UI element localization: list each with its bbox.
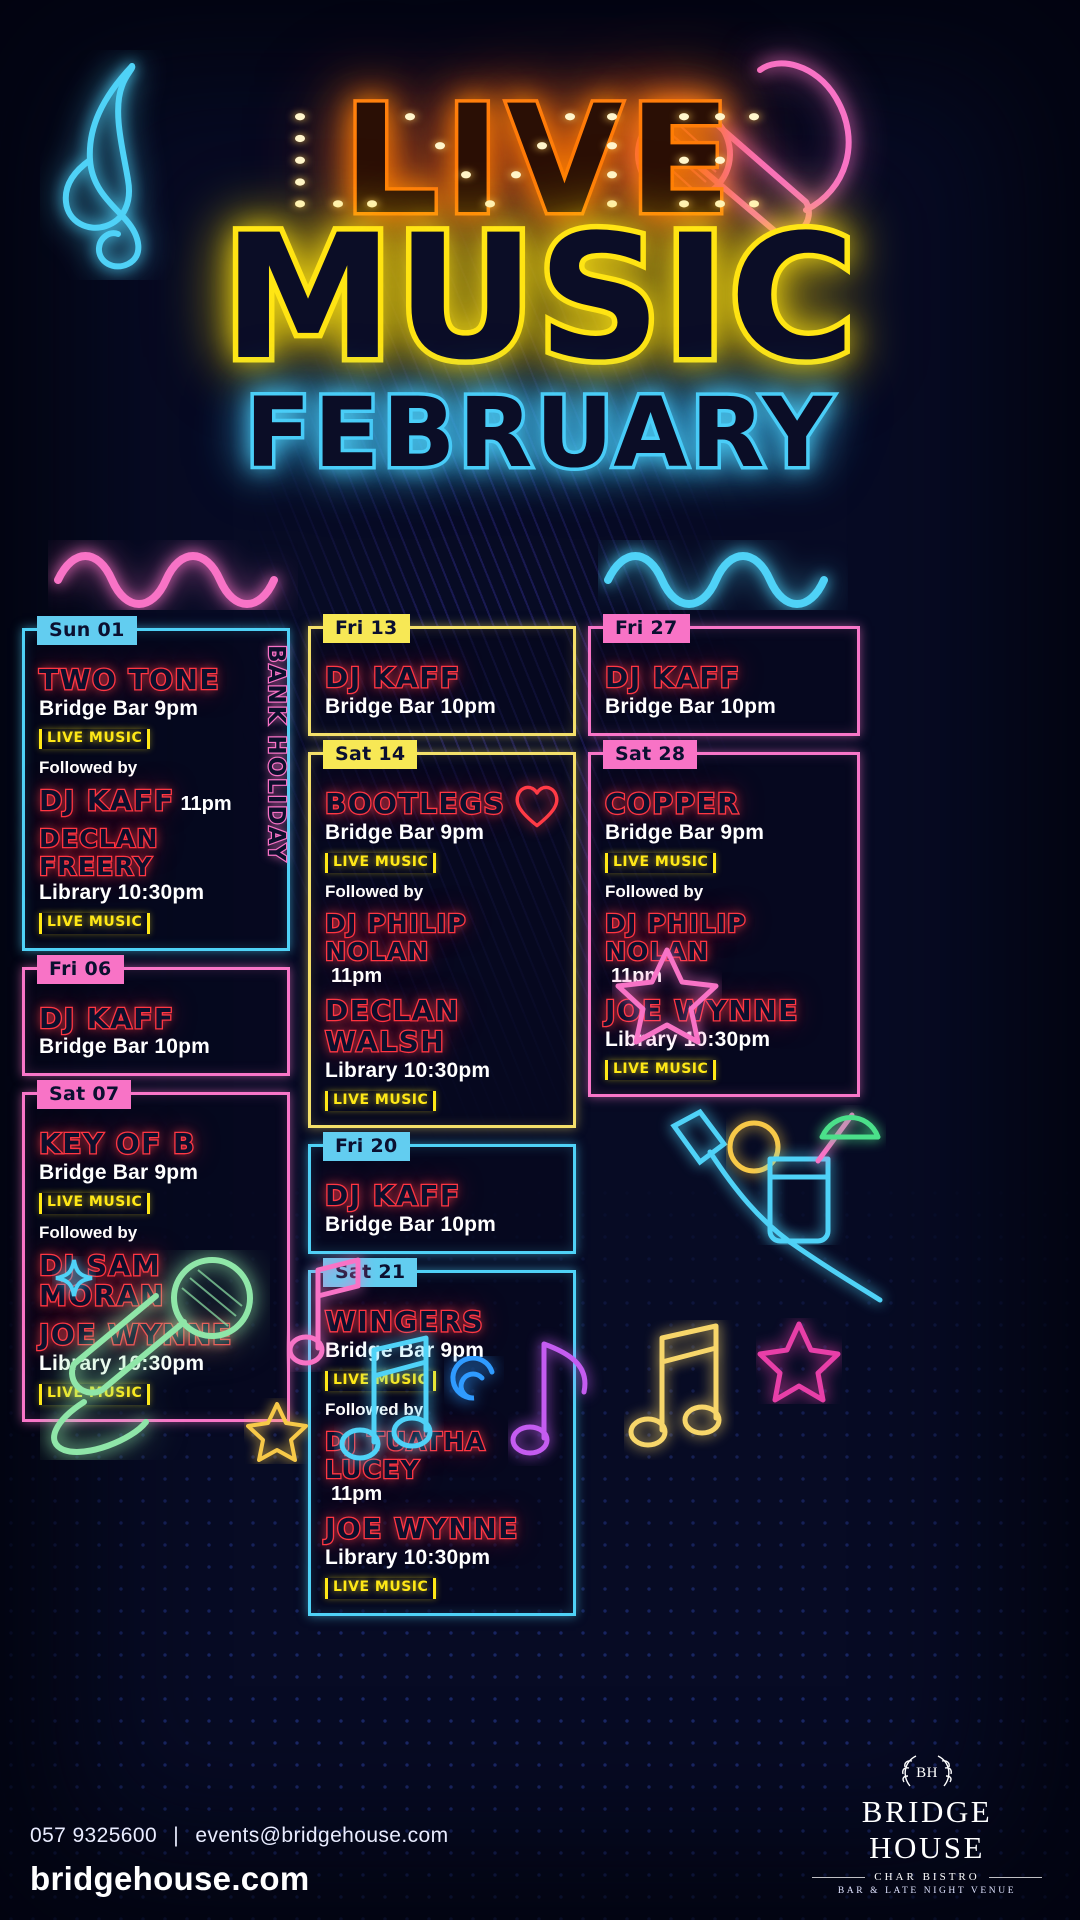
act-name: DECLAN WALSH [325,996,559,1058]
act-venue-time: Library 10:30pmLIVE MUSIC [39,1352,273,1405]
event-card-fri-13[interactable]: Fri 13DJ KAFFBridge Bar 10pm [308,626,576,736]
act-row: KEY OF B [39,1121,273,1160]
act-name: DJ KAFF [605,663,741,694]
venue-text: Library 10:30pm [325,1059,490,1083]
contact-line: 057 9325600 | events@bridgehouse.com [30,1824,448,1848]
act-time: 11pm [181,793,232,815]
act-row: DJ KAFF [605,655,843,694]
event-date-badge: Sun 01 [37,616,137,645]
logo-sub-rule: CHAR BISTRO [812,1871,1042,1883]
followed-by-label: Followed by [325,1400,559,1420]
act-row: DECLAN WALSH [325,988,559,1058]
act-row: TWO TONE [39,657,273,696]
event-date-badge: Sat 07 [37,1080,131,1109]
logo-rule-left [812,1877,865,1878]
act-row: COPPER [605,781,843,820]
event-card-sat-21[interactable]: Sat 21WINGERSBridge Bar 9pmLIVE MUSICFol… [308,1270,576,1616]
live-music-badge: LIVE MUSIC [325,1091,436,1112]
act-name: DJ KAFF [325,1181,461,1212]
act-name: DJ PHILIP NOLAN [605,910,843,965]
event-card-sat-14[interactable]: Sat 14BOOTLEGSBridge Bar 9pmLIVE MUSICFo… [308,752,576,1128]
event-card-sat-28[interactable]: Sat 28COPPERBridge Bar 9pmLIVE MUSICFoll… [588,752,860,1098]
poster-footer: 057 9325600 | events@bridgehouse.com bri… [0,1750,1080,1920]
venue-text: Bridge Bar 9pm [325,1339,484,1363]
live-music-badge: LIVE MUSIC [325,853,436,874]
act-row: DJ KAFF [325,655,559,694]
act-venue-time: Bridge Bar 9pmLIVE MUSIC [39,1161,273,1214]
logo-rule-right [989,1877,1042,1878]
event-card-sat-07[interactable]: Sat 07KEY OF BBridge Bar 9pmLIVE MUSICFo… [22,1092,290,1421]
act-venue-time: Library 10:30pmLIVE MUSIC [325,1546,559,1599]
act-row: WINGERS [325,1299,559,1338]
act-row: DJ KAFF [39,996,273,1035]
act-name: COPPER [605,789,740,820]
venue-text: Bridge Bar 9pm [605,821,764,845]
act-name: DJ KAFF [39,1004,175,1035]
act-venue-time: Library 10:30pmLIVE MUSIC [39,881,273,934]
act-row: DECLAN FREERY [39,817,273,880]
logo-sub: CHAR BISTRO [874,1871,979,1883]
logo-tagline: BAR & LATE NIGHT VENUE [812,1886,1042,1896]
event-date-badge: Sat 28 [603,740,697,769]
venue-text: Bridge Bar 10pm [605,695,776,719]
venue-text: Library 10:30pm [39,1352,204,1376]
laurel-wreath-icon: BH [894,1750,960,1792]
venue-text: Bridge Bar 10pm [325,695,496,719]
act-row: JOE WYNNE [325,1506,559,1545]
page-title-music: MUSIC [0,212,1080,384]
page-title-month: FEBRUARY [0,385,1080,481]
event-date-badge: Fri 20 [323,1132,410,1161]
act-name: DJ KAFF [325,663,461,694]
venue-text: Bridge Bar 9pm [39,697,198,721]
live-music-badge: LIVE MUSIC [605,853,716,874]
act-name: DECLAN FREERY [39,825,273,880]
act-venue-time: Library 10:30pmLIVE MUSIC [325,1059,559,1112]
event-card-fri-27[interactable]: Fri 27DJ KAFFBridge Bar 10pm [588,626,860,736]
act-time: 11pm [611,965,662,987]
venue-text: Bridge Bar 10pm [325,1213,496,1237]
act-venue-time: Library 10:30pmLIVE MUSIC [605,1028,843,1081]
act-name: KEY OF B [39,1129,196,1160]
live-music-badge: LIVE MUSIC [39,1193,150,1214]
act-row: DJ PHILIP NOLAN11pm [325,902,559,988]
act-venue-time: Bridge Bar 10pm [325,1213,559,1237]
live-music-badge: LIVE MUSIC [605,1060,716,1081]
followed-by-label: Followed by [325,882,559,902]
contact-separator: | [173,1824,179,1847]
act-venue-time: Bridge Bar 9pmLIVE MUSIC [605,821,843,874]
heart-icon [511,781,563,829]
act-row: DJ KAFF [325,1173,559,1212]
website-url[interactable]: bridgehouse.com [30,1860,310,1898]
schedule-column-left: Sun 01BANK HOLIDAYTWO TONEBridge Bar 9pm… [22,628,290,1438]
act-row: DJ KAFF11pm [39,778,273,817]
event-date-badge: Sat 14 [323,740,417,769]
act-name: JOE WYNNE [605,996,799,1027]
act-venue-time: Bridge Bar 9pmLIVE MUSIC [39,697,273,750]
phone-number[interactable]: 057 9325600 [30,1824,157,1847]
wave-cyan-icon [598,540,848,610]
act-venue-time: Bridge Bar 10pm [39,1035,273,1059]
wave-pink-icon [48,540,298,610]
followed-by-label: Followed by [39,1223,273,1243]
live-music-badge: LIVE MUSIC [39,913,150,934]
event-card-sun-01[interactable]: Sun 01BANK HOLIDAYTWO TONEBridge Bar 9pm… [22,628,290,951]
act-name: BOOTLEGS [325,789,505,820]
event-card-fri-20[interactable]: Fri 20DJ KAFFBridge Bar 10pm [308,1144,576,1254]
act-name: DJ KAFF [39,786,175,817]
live-music-badge: LIVE MUSIC [39,729,150,750]
live-music-badge: LIVE MUSIC [325,1578,436,1599]
live-music-badge: LIVE MUSIC [325,1371,436,1392]
logo-name: BRIDGE HOUSE [812,1794,1042,1866]
act-time: 11pm [331,1483,382,1505]
schedule-column-middle: Fri 13DJ KAFFBridge Bar 10pmSat 14BOOTLE… [308,626,576,1632]
email-address[interactable]: events@bridgehouse.com [195,1824,448,1847]
venue-text: Library 10:30pm [605,1028,770,1052]
bank-holiday-badge: BANK HOLIDAY [263,645,289,863]
event-date-badge: Fri 27 [603,614,690,643]
act-name: DJ SAM MORAN [39,1251,273,1313]
act-name: DJ TUATHA LUCEY [325,1428,559,1483]
act-row: DJ SAM MORAN [39,1243,273,1313]
event-date-badge: Sat 21 [323,1258,417,1287]
event-date-badge: Fri 13 [323,614,410,643]
act-row: DJ TUATHA LUCEY11pm [325,1420,559,1506]
live-music-badge: LIVE MUSIC [39,1384,150,1405]
venue-text: Library 10:30pm [325,1546,490,1570]
venue-text: Bridge Bar 9pm [39,1161,198,1185]
act-time: 11pm [331,965,382,987]
followed-by-label: Followed by [39,758,273,778]
poster-header: LIVE MUSIC FEBRUARY [0,0,1080,620]
event-card-fri-06[interactable]: Fri 06DJ KAFFBridge Bar 10pm [22,967,290,1077]
act-name: DJ PHILIP NOLAN [325,910,559,965]
act-row: DJ PHILIP NOLAN11pm [605,902,843,988]
act-venue-time: Bridge Bar 10pm [325,695,559,719]
act-row: JOE WYNNE [39,1312,273,1351]
logo-monogram: BH [916,1765,938,1781]
venue-text: Bridge Bar 9pm [325,821,484,845]
act-venue-time: Bridge Bar 10pm [605,695,843,719]
act-name: JOE WYNNE [39,1320,233,1351]
act-name: TWO TONE [39,665,220,696]
act-name: WINGERS [325,1307,484,1338]
act-row: JOE WYNNE [605,988,843,1027]
bridge-house-logo: BH BRIDGE HOUSE CHAR BISTRO BAR & LATE N… [812,1750,1042,1896]
followed-by-label: Followed by [605,882,843,902]
event-date-badge: Fri 06 [37,955,124,984]
venue-text: Library 10:30pm [39,881,204,905]
schedule-column-right: Fri 27DJ KAFFBridge Bar 10pmSat 28COPPER… [588,626,860,1113]
venue-text: Bridge Bar 10pm [39,1035,210,1059]
act-name: JOE WYNNE [325,1514,519,1545]
act-venue-time: Bridge Bar 9pmLIVE MUSIC [325,1339,559,1392]
